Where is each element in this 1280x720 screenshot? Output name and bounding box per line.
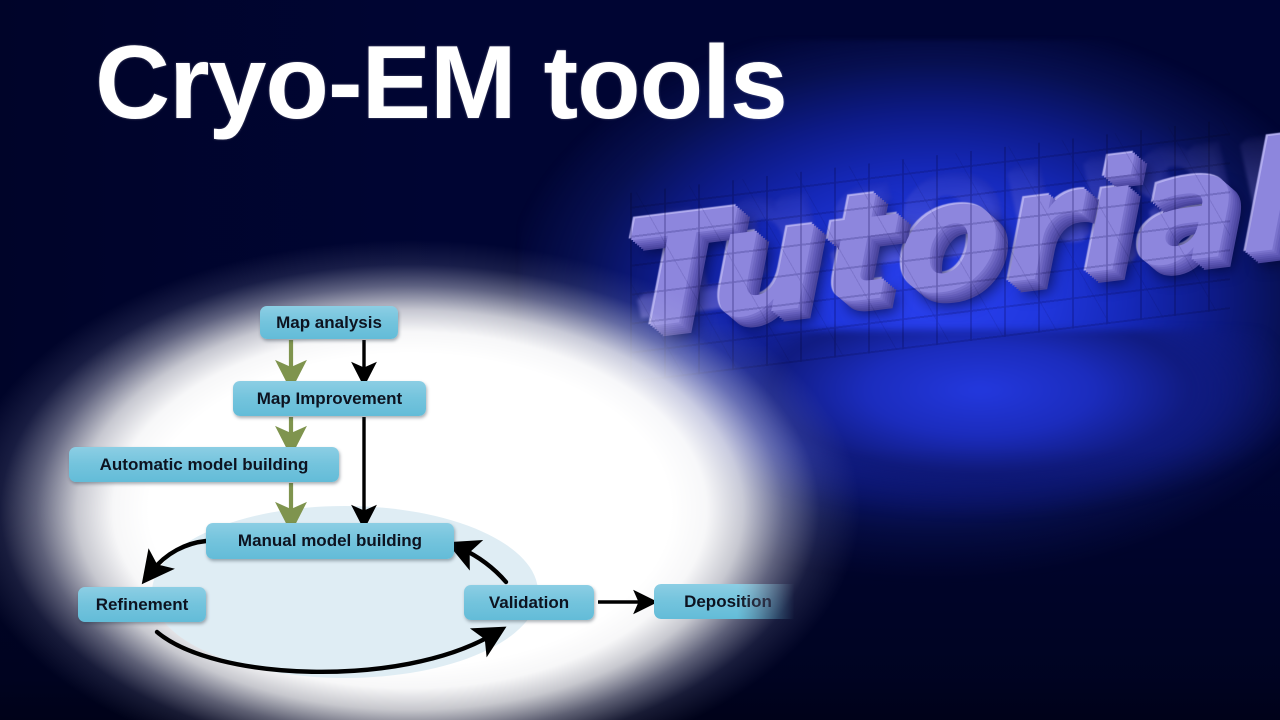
arrow-refinement-to-validation — [157, 632, 492, 672]
node-refinement-label: Refinement — [96, 595, 189, 615]
node-map-analysis[interactable]: Map analysis — [260, 306, 398, 339]
workflow-diagram: Map analysis Map Improvement Automatic m… — [0, 0, 1280, 720]
node-deposition[interactable]: Deposition — [654, 584, 802, 619]
node-automatic-model-building-label: Automatic model building — [100, 455, 309, 475]
node-manual-model-building[interactable]: Manual model building — [206, 523, 454, 559]
arrow-manual-model-to-refinement — [152, 541, 206, 571]
node-refinement[interactable]: Refinement — [78, 587, 206, 622]
node-manual-model-building-label: Manual model building — [238, 531, 422, 551]
node-map-improvement[interactable]: Map Improvement — [233, 381, 426, 416]
node-automatic-model-building[interactable]: Automatic model building — [69, 447, 339, 482]
slide-canvas: Tutorial Tutorial Cryo-EM tools — [0, 0, 1280, 720]
node-validation-label: Validation — [489, 593, 569, 613]
node-map-analysis-label: Map analysis — [276, 313, 382, 333]
arrow-validation-to-manual-model — [462, 549, 506, 582]
node-deposition-label: Deposition — [684, 592, 772, 612]
node-validation[interactable]: Validation — [464, 585, 594, 620]
node-map-improvement-label: Map Improvement — [257, 389, 402, 409]
